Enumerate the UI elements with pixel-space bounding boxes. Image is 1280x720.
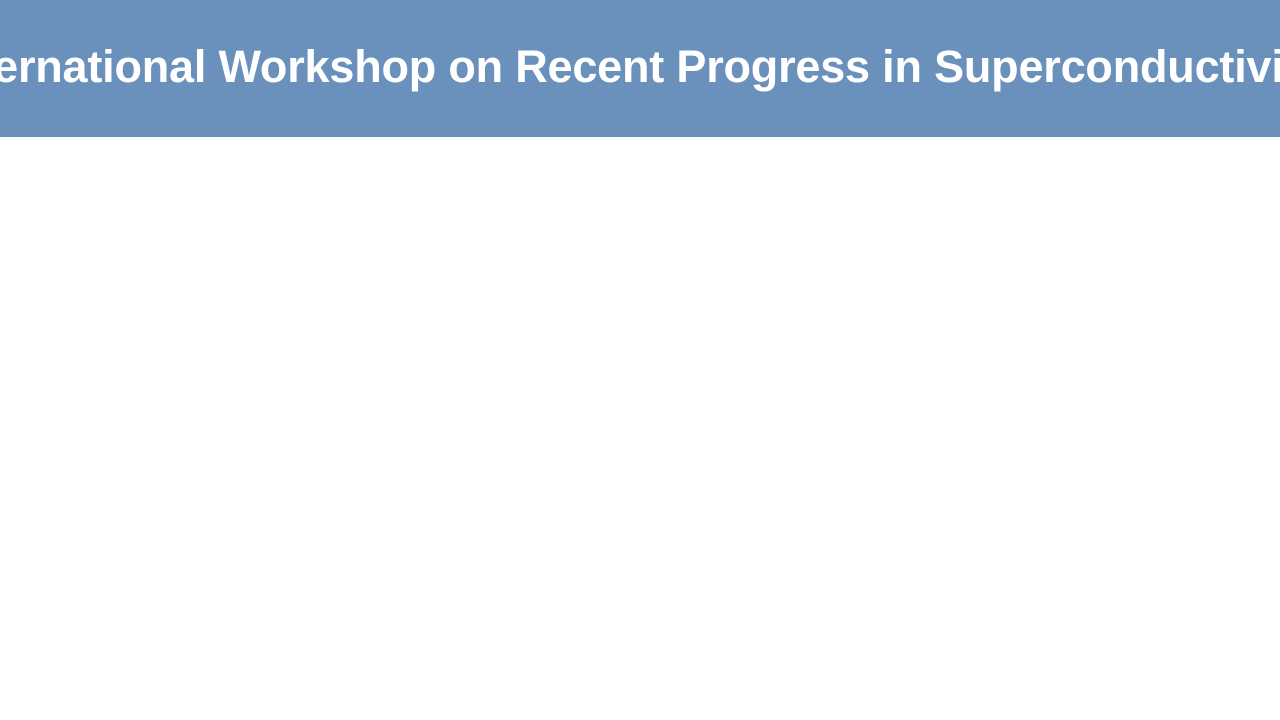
- title-banner: International Workshop on Recent Progres…: [0, 0, 1280, 137]
- presentation-slide: International Workshop on Recent Progres…: [0, 0, 1280, 720]
- slide-body: [0, 137, 1280, 720]
- slide-title: International Workshop on Recent Progres…: [0, 42, 1280, 92]
- content-placeholder: [0, 137, 1280, 720]
